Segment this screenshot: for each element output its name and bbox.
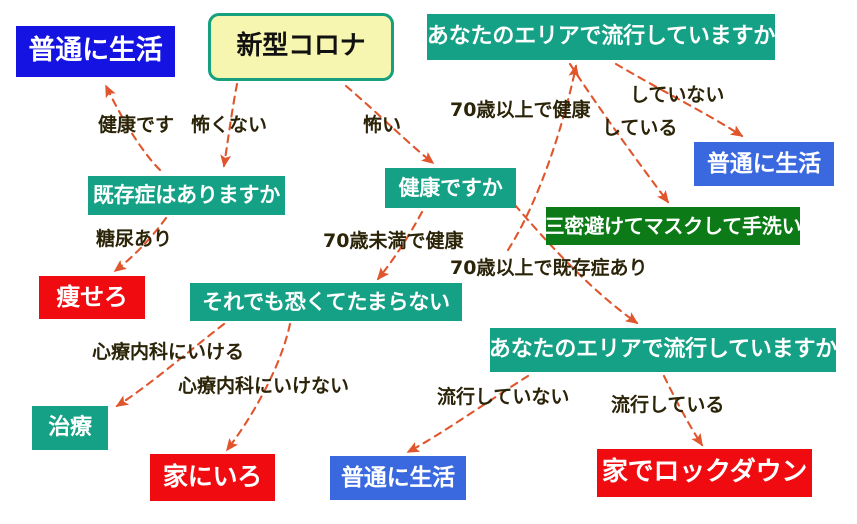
- node-area-spread-bot[interactable]: あなたのエリアで流行していますか: [490, 328, 836, 372]
- edge-label-scary: 怖い: [363, 116, 401, 135]
- edge-label-healthy-ok: 健康です: [98, 116, 174, 135]
- node-root[interactable]: 新型コロナ: [208, 13, 394, 81]
- edge-label-under70-healthy: 70歳未満で健康: [323, 232, 463, 251]
- node-normal-life-top[interactable]: 普通に生活: [16, 26, 175, 77]
- node-area-spread-top[interactable]: あなたのエリアで流行していますか: [427, 14, 775, 60]
- node-treatment[interactable]: 治療: [32, 406, 108, 450]
- node-stay-home[interactable]: 家にいろ: [150, 454, 275, 501]
- node-normal-life-bot[interactable]: 普通に生活: [330, 456, 466, 500]
- edge-label-over70-illness: 70歳以上で既存症あり: [450, 259, 647, 278]
- node-existing-illness[interactable]: 既存症はありますか: [88, 176, 285, 215]
- edge-label-not-scary: 怖くない: [191, 116, 267, 135]
- node-normal-life-right[interactable]: 普通に生活: [694, 142, 834, 186]
- edge-label-not-spreading-bot: 流行していない: [437, 388, 569, 407]
- edge-label-cannot-go-clinic: 心療内科にいけない: [178, 377, 349, 396]
- node-still-scared[interactable]: それでも恐くてたまらない: [190, 283, 462, 321]
- edge-layer: [0, 0, 857, 524]
- flowchart-canvas: 普通に生活新型コロナあなたのエリアで流行していますか普通に生活既存症はありますか…: [0, 0, 857, 524]
- node-lose-weight[interactable]: 痩せろ: [39, 276, 145, 319]
- node-lockdown[interactable]: 家でロックダウン: [597, 449, 812, 497]
- node-three-cs[interactable]: 三密避けてマスクして手洗い: [546, 207, 800, 245]
- node-healthy[interactable]: 健康ですか: [385, 168, 516, 208]
- edge-label-spreading-top: している: [602, 119, 677, 138]
- edge-label-diabetes: 糖尿あり: [96, 230, 172, 249]
- edge-label-not-spreading-top: していない: [630, 86, 724, 105]
- edge-label-over70-healthy: 70歳以上で健康: [450, 101, 590, 120]
- edge-label-spreading-bot: 流行している: [611, 396, 724, 415]
- edge-label-can-go-clinic: 心療内科にいける: [92, 343, 244, 362]
